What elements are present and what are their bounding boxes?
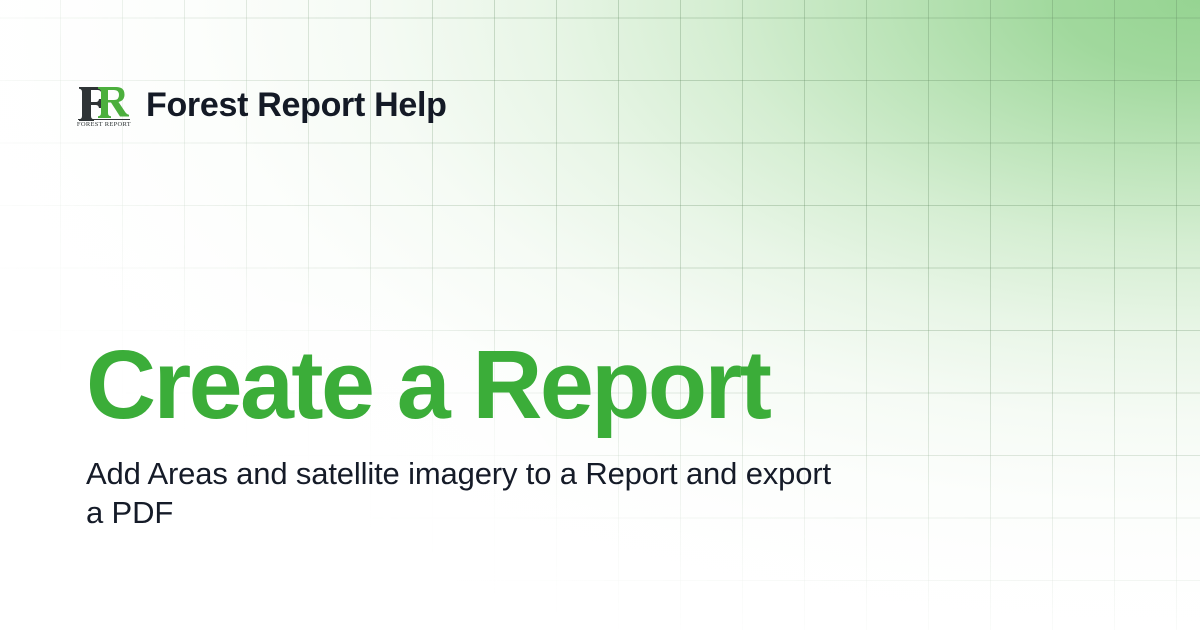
brand-title: Forest Report Help <box>146 88 447 122</box>
page-subtitle: Add Areas and satellite imagery to a Rep… <box>86 455 846 533</box>
brand-header[interactable]: FOREST REPORT Forest Report Help <box>76 82 447 128</box>
forest-report-logo-icon: FOREST REPORT <box>76 82 132 128</box>
page-title: Create a Report <box>86 336 926 433</box>
svg-text:FOREST REPORT: FOREST REPORT <box>77 121 131 128</box>
banner-canvas: FOREST REPORT Forest Report Help Create … <box>0 0 1200 630</box>
hero-section: Create a Report Add Areas and satellite … <box>86 336 926 533</box>
